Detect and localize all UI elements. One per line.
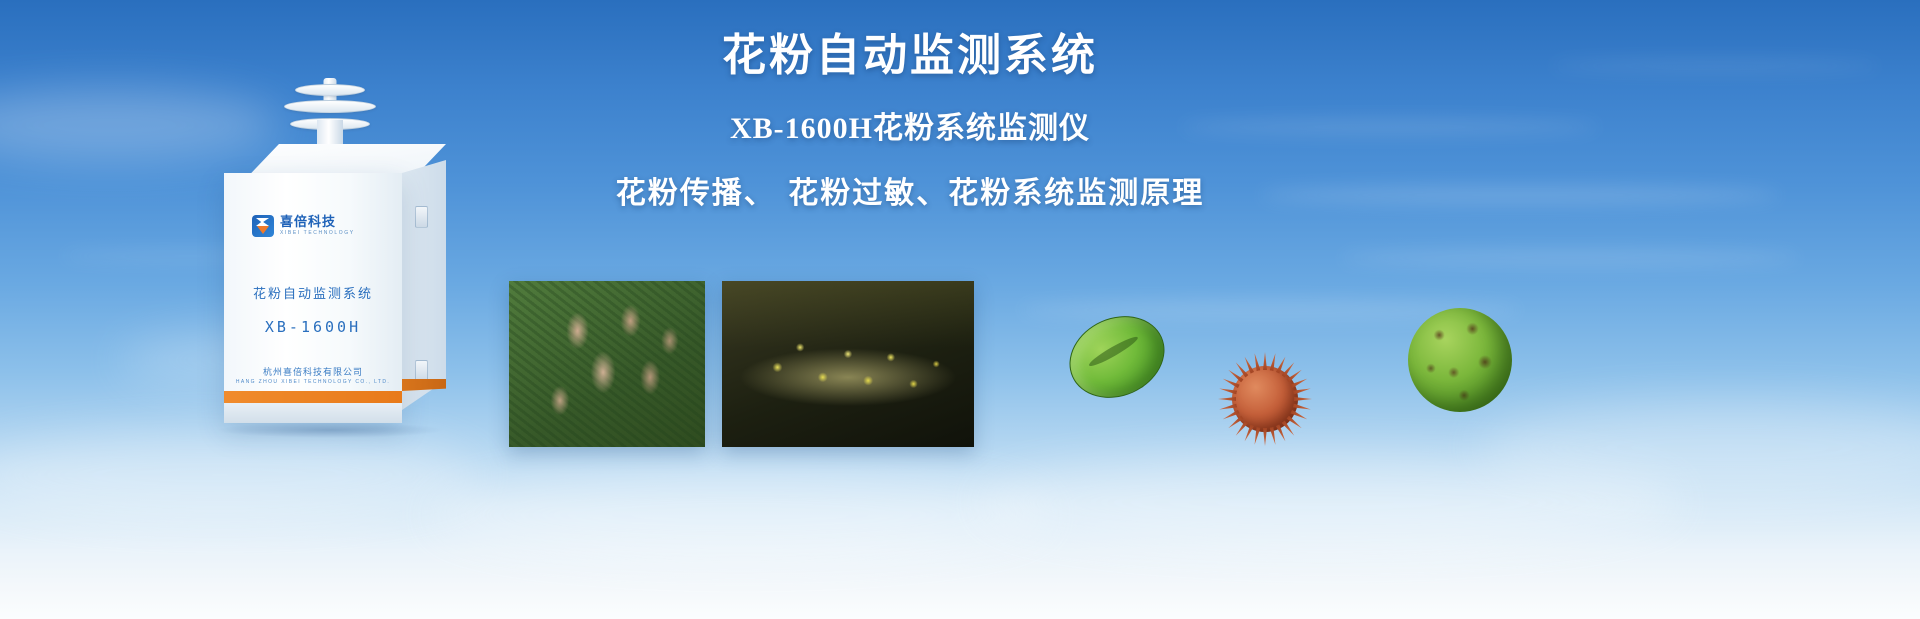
xibei-logo-icon xyxy=(252,215,274,237)
catkin-pollen-photo xyxy=(722,281,974,447)
pollen-spike xyxy=(1263,428,1267,446)
warty-pollen-grain xyxy=(1408,308,1512,412)
spiky-pollen-grain xyxy=(1218,352,1312,446)
brand-name-en: XIBEI TECHNOLOGY xyxy=(280,230,355,237)
sampler-ring-top xyxy=(295,84,365,96)
device-company-en: HANG ZHOU XIBEI TECHNOLOGY CO., LTD. xyxy=(224,379,402,385)
device-model-id: XB-1600H xyxy=(224,318,402,336)
device-company-cn: 杭州喜倍科技有限公司 xyxy=(224,365,402,378)
device-latch-upper[interactable] xyxy=(415,206,428,228)
device-brand-logo: 喜倍科技 XIBEI TECHNOLOGY xyxy=(252,215,355,237)
spiky-grain-core xyxy=(1232,366,1298,432)
sampler-ring-mid xyxy=(284,100,376,113)
device-front-panel: 喜倍科技 XIBEI TECHNOLOGY 花粉自动监测系统 XB-1600H … xyxy=(224,173,402,423)
product-subtitle: XB-1600H花粉系统监测仪 xyxy=(590,109,1230,148)
brand-name-cn: 喜倍科技 xyxy=(280,215,355,229)
pollen-spike xyxy=(1218,397,1236,401)
feature-tagline: 花粉传播、 花粉过敏、花粉系统监测原理 xyxy=(590,174,1230,213)
device-sampler-head xyxy=(278,78,382,152)
pollen-spike xyxy=(1294,397,1312,401)
pollen-spike xyxy=(1263,352,1267,370)
pollen-monitoring-banner: 喜倍科技 XIBEI TECHNOLOGY 花粉自动监测系统 XB-1600H … xyxy=(0,0,1920,619)
device-base xyxy=(224,403,402,423)
green-pollen-grain xyxy=(1056,301,1177,412)
banner-text-block: 花粉自动监测系统 XB-1600H花粉系统监测仪 花粉传播、 花粉过敏、花粉系统… xyxy=(590,28,1230,213)
cypress-pollen-cones-photo xyxy=(509,281,705,447)
pollen-monitor-device: 喜倍科技 XIBEI TECHNOLOGY 花粉自动监测系统 XB-1600H … xyxy=(200,78,460,428)
device-accent-stripe xyxy=(224,391,402,403)
device-product-name: 花粉自动监测系统 xyxy=(224,283,402,302)
device-shadow xyxy=(216,422,444,438)
device-accent-stripe-side xyxy=(402,379,446,391)
page-title: 花粉自动监测系统 xyxy=(590,28,1230,83)
